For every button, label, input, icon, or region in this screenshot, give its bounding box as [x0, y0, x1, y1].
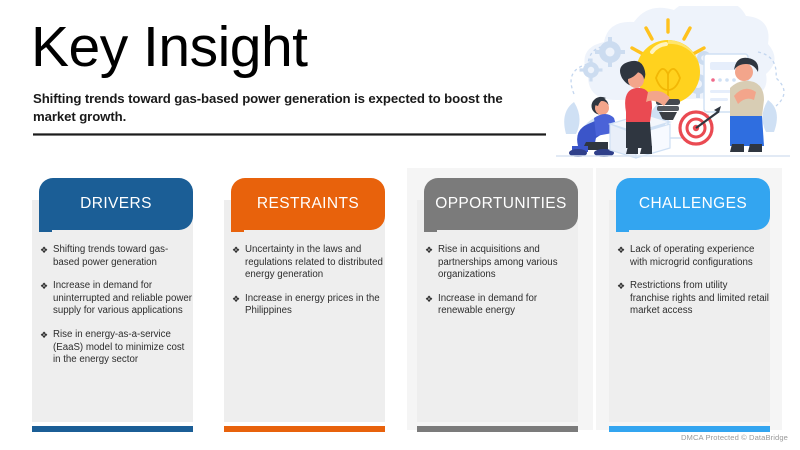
bullet-text: Shifting trends toward gas-based power g… — [53, 244, 192, 269]
bullet-text: Restrictions from utility franchise righ… — [630, 280, 769, 318]
bullet-text: Rise in energy-as-a-service (EaaS) model… — [53, 329, 192, 367]
bullet-text: Increase in demand for uninterrupted and… — [53, 280, 192, 318]
list-item: ❖ Restrictions from utility franchise ri… — [617, 280, 769, 318]
list-item: ❖ Increase in demand for uninterrupted a… — [40, 280, 192, 318]
bullet-list-drivers: ❖ Shifting trends toward gas-based power… — [40, 244, 192, 378]
card-header-restraints[interactable]: RESTRAINTS — [231, 178, 385, 230]
bullet-diamond-icon: ❖ — [40, 244, 48, 269]
bullet-text: Increase in energy prices in the Philipp… — [245, 293, 384, 318]
list-item: ❖ Rise in energy-as-a-service (EaaS) mod… — [40, 329, 192, 367]
card-header-challenges[interactable]: CHALLENGES — [616, 178, 770, 230]
card-challenges[interactable]: CHALLENGES ❖ Lack of operating experienc… — [609, 178, 770, 432]
bullet-text: Lack of operating experience with microg… — [630, 244, 769, 269]
dmca-footer-note: DMCA Protected © DataBridge — [681, 433, 788, 442]
insight-card-grid: DRIVERS ❖ Shifting trends toward gas-bas… — [0, 0, 800, 450]
bullet-diamond-icon: ❖ — [425, 293, 433, 318]
card-title-restraints: RESTRAINTS — [257, 195, 359, 213]
bullet-diamond-icon: ❖ — [40, 280, 48, 318]
bullet-text: Uncertainty in the laws and regulations … — [245, 244, 384, 282]
card-accent-drivers — [32, 426, 193, 432]
bullet-diamond-icon: ❖ — [617, 280, 625, 318]
card-title-drivers: DRIVERS — [80, 195, 152, 213]
list-item: ❖ Increase in demand for renewable energ… — [425, 293, 577, 318]
list-item: ❖ Lack of operating experience with micr… — [617, 244, 769, 269]
card-header-drivers[interactable]: DRIVERS — [39, 178, 193, 230]
bullet-list-restraints: ❖ Uncertainty in the laws and regulation… — [232, 244, 384, 329]
card-opportunities[interactable]: OPPORTUNITIES ❖ Rise in acquisitions and… — [417, 178, 578, 432]
list-item: ❖ Shifting trends toward gas-based power… — [40, 244, 192, 269]
card-title-challenges: CHALLENGES — [639, 195, 747, 213]
bullet-list-challenges: ❖ Lack of operating experience with micr… — [617, 244, 769, 329]
card-accent-restraints — [224, 426, 385, 432]
bullet-diamond-icon: ❖ — [232, 293, 240, 318]
card-title-opportunities: OPPORTUNITIES — [435, 195, 567, 213]
card-accent-challenges — [609, 426, 770, 432]
list-item: ❖ Increase in energy prices in the Phili… — [232, 293, 384, 318]
list-item: ❖ Rise in acquisitions and partnerships … — [425, 244, 577, 282]
card-restraints[interactable]: RESTRAINTS ❖ Uncertainty in the laws and… — [224, 178, 385, 432]
bullet-text: Rise in acquisitions and partnerships am… — [438, 244, 577, 282]
card-accent-opportunities — [417, 426, 578, 432]
card-drivers[interactable]: DRIVERS ❖ Shifting trends toward gas-bas… — [32, 178, 193, 432]
bullet-diamond-icon: ❖ — [40, 329, 48, 367]
bullet-text: Increase in demand for renewable energy — [438, 293, 577, 318]
bullet-list-opportunities: ❖ Rise in acquisitions and partnerships … — [425, 244, 577, 329]
card-header-opportunities[interactable]: OPPORTUNITIES — [424, 178, 578, 230]
bullet-diamond-icon: ❖ — [617, 244, 625, 269]
bullet-diamond-icon: ❖ — [232, 244, 240, 282]
list-item: ❖ Uncertainty in the laws and regulation… — [232, 244, 384, 282]
slide-root: Key Insight Shifting trends toward gas-b… — [0, 0, 800, 450]
bullet-diamond-icon: ❖ — [425, 244, 433, 282]
